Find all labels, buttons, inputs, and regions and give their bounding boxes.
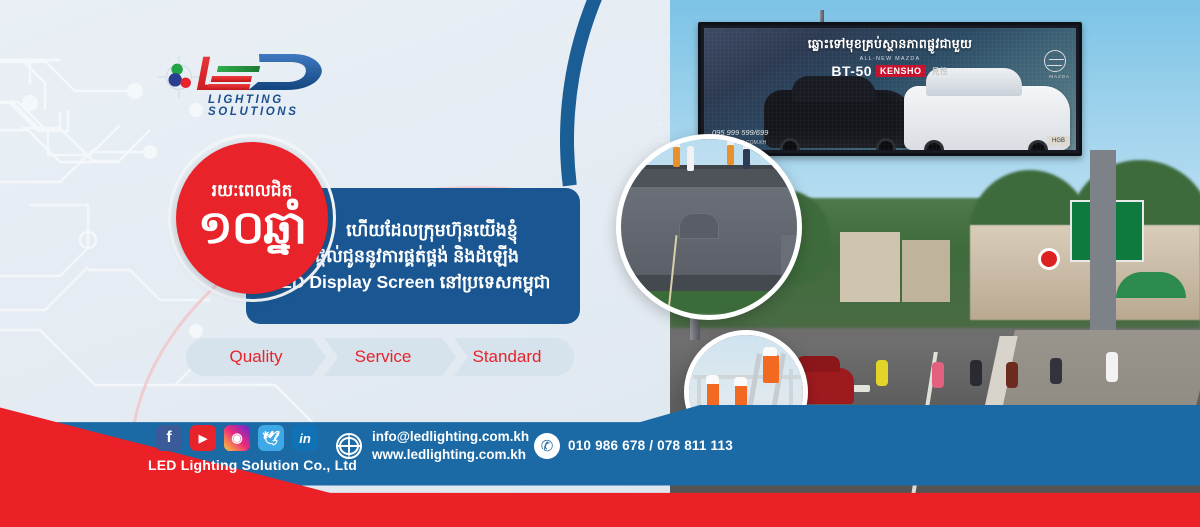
motorbike-rider bbox=[876, 360, 888, 386]
billboard-khmer-headline: ឆ្លោះទៅមុខគ្រប់ស្ថានភាពផ្លូវជាមួយ bbox=[704, 37, 1076, 55]
worker-helmet bbox=[763, 347, 777, 356]
badge-top-text: រយៈពេលជិត bbox=[212, 182, 293, 199]
website-text[interactable]: www.ledlighting.com.kh bbox=[372, 447, 526, 462]
company-logo[interactable]: L LIGHTING SOLUTIONS bbox=[158, 48, 338, 108]
mazda-wordmark: MAZDA bbox=[1049, 74, 1070, 79]
headline-line-2: ផ្តល់ជូននូវការផ្គត់ផ្គង់ និងដំឡើង bbox=[315, 243, 519, 269]
email-text[interactable]: info@ledlighting.com.kh bbox=[372, 429, 529, 444]
chip-service[interactable]: Service bbox=[310, 338, 456, 376]
badge-years-text: ១០ឆ្នាំ bbox=[198, 201, 306, 254]
linkedin-icon[interactable]: in bbox=[292, 425, 318, 451]
billboard-model-row: BT-50KENSHO見性 bbox=[704, 63, 1076, 79]
led-screen-content: ឆ្លោះទៅមុខគ្រប់ស្ថានភាពផ្លូវជាមួយ ALL-NE… bbox=[704, 28, 1076, 150]
worker bbox=[763, 355, 779, 383]
headline-line-1: ហើយដែលក្រុមហ៊ុនយើងខ្ញុំ bbox=[346, 217, 518, 243]
billboard-allnew-text: ALL-NEW MAZDA bbox=[704, 56, 1076, 62]
worker-helmet bbox=[734, 377, 747, 386]
billboard-kensho-badge: KENSHO bbox=[876, 65, 926, 77]
photo-circle-installation bbox=[616, 134, 802, 320]
billboard-japanese-text: 見性 bbox=[932, 67, 949, 76]
logo-tagline: LIGHTING SOLUTIONS bbox=[208, 94, 338, 118]
phone-text[interactable]: 010 986 678 / 078 811 113 bbox=[568, 438, 733, 453]
chip-standard[interactable]: Standard bbox=[440, 338, 574, 376]
billboard-corner-badge: HGB bbox=[1047, 136, 1070, 146]
chip-standard-label: Standard bbox=[473, 347, 542, 367]
billboard-model: BT-50 bbox=[831, 63, 872, 79]
worker-helmet bbox=[706, 375, 719, 384]
phone-icon: ✆ bbox=[534, 433, 560, 459]
company-name: LED Lighting Solution Co., Ltd bbox=[148, 457, 357, 473]
chip-quality[interactable]: Quality bbox=[186, 338, 326, 376]
chip-quality-label: Quality bbox=[230, 347, 283, 367]
social-links: f ▶ ◉ 🕊 in bbox=[156, 425, 318, 451]
no-entry-sign bbox=[1038, 248, 1060, 270]
mazda-logo-icon bbox=[1044, 50, 1066, 72]
facebook-icon[interactable]: f bbox=[156, 425, 182, 451]
twitter-icon[interactable]: 🕊 bbox=[258, 425, 284, 451]
billboard-truss bbox=[1090, 150, 1116, 336]
motorbike-rider bbox=[1006, 362, 1018, 388]
chip-service-label: Service bbox=[355, 347, 412, 367]
mazda-white-truck bbox=[904, 86, 1070, 150]
value-chip-bar: Quality Service Standard bbox=[186, 338, 574, 376]
cyclist bbox=[1106, 352, 1118, 382]
motorbike-rider bbox=[932, 362, 944, 388]
globe-icon bbox=[336, 433, 362, 459]
youtube-icon[interactable]: ▶ bbox=[190, 425, 216, 451]
led-billboard: ឆ្លោះទៅមុខគ្រប់ស្ថានភាពផ្លូវជាមួយ ALL-NE… bbox=[698, 22, 1082, 156]
years-badge: រយៈពេលជិត ១០ឆ្នាំ bbox=[176, 142, 328, 294]
instagram-icon[interactable]: ◉ bbox=[224, 425, 250, 451]
banner-root: ឆ្លោះទៅមុខគ្រប់ស្ថានភាពផ្លូវជាមួយ ALL-NE… bbox=[0, 0, 1200, 527]
building bbox=[840, 232, 900, 302]
building bbox=[902, 240, 950, 302]
footer-content: f ▶ ◉ 🕊 in LED Lighting Solution Co., Lt… bbox=[0, 425, 1200, 483]
motorbike-rider bbox=[1050, 358, 1062, 384]
motorbike-rider bbox=[970, 360, 982, 386]
